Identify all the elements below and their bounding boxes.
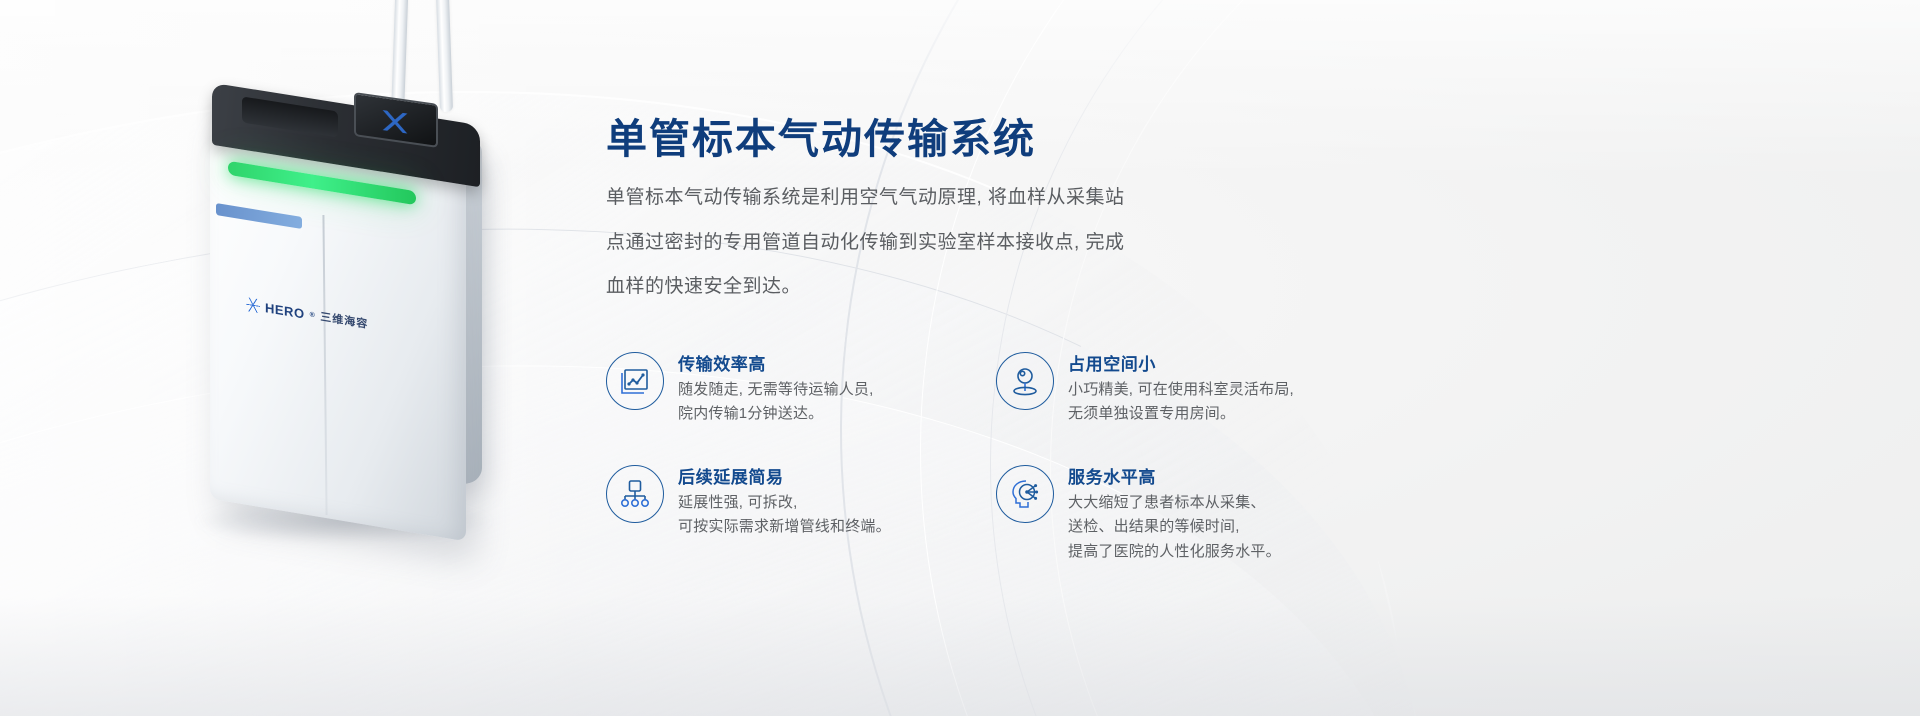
feature-line: 送检、出结果的等候时间, <box>1068 515 1281 539</box>
feature-title: 后续延展简易 <box>678 463 891 488</box>
feature-text: 传输效率高 随发随走, 无需等待运输人员, 院内传输1分钟送达。 <box>678 348 874 427</box>
feature-grid: 传输效率高 随发随走, 无需等待运输人员, 院内传输1分钟送达。 占用空间小 <box>606 348 1306 564</box>
feature-line: 延展性强, 可拆改, <box>678 491 891 515</box>
description-line-1: 单管标本气动传输系统是利用空气气动原理, 将血样从采集站 <box>606 176 1266 221</box>
feature-text: 服务水平高 大大缩短了患者标本从采集、 送检、出结果的等候时间, 提高了医院的人… <box>1068 461 1281 564</box>
pneumatic-tube-right <box>436 0 453 112</box>
feature-line: 无须单独设置专用房间。 <box>1068 402 1294 426</box>
feature-title: 服务水平高 <box>1068 463 1281 488</box>
feature-line: 大大缩短了患者标本从采集、 <box>1068 491 1281 515</box>
content-column: 单管标本气动传输系统 单管标本气动传输系统是利用空气气动原理, 将血样从采集站 … <box>606 0 1606 716</box>
description-line-3: 血样的快速安全到达。 <box>606 265 1266 310</box>
feature-line: 院内传输1分钟送达。 <box>678 402 874 426</box>
brand-spark-icon <box>246 297 260 313</box>
feature-item-space-saving[interactable]: 占用空间小 小巧精美, 可在使用科室灵活布局, 无须单独设置专用房间。 <box>996 348 1306 453</box>
feature-title: 传输效率高 <box>678 350 874 375</box>
location-pin-icon <box>996 352 1054 410</box>
feature-line: 随发随走, 无需等待运输人员, <box>678 378 874 402</box>
feature-line: 小巧精美, 可在使用科室灵活布局, <box>1068 378 1294 402</box>
feature-title: 占用空间小 <box>1068 350 1294 375</box>
feature-line: 提高了医院的人性化服务水平。 <box>1068 540 1281 564</box>
feature-text: 后续延展简易 延展性强, 可拆改, 可按实际需求新增管线和终端。 <box>678 461 891 540</box>
page-title: 单管标本气动传输系统 <box>606 119 1036 160</box>
brand-registered-mark: ® <box>310 311 316 319</box>
feature-text: 占用空间小 小巧精美, 可在使用科室灵活布局, 无须单独设置专用房间。 <box>1068 348 1294 427</box>
smart-head-icon <box>996 465 1054 523</box>
product-image: HERO ® 三维海容 <box>150 0 570 600</box>
description-block: 单管标本气动传输系统是利用空气气动原理, 将血样从采集站 点通过密封的专用管道自… <box>606 176 1266 310</box>
feature-item-easy-extension[interactable]: 后续延展简易 延展性强, 可拆改, 可按实际需求新增管线和终端。 <box>606 461 996 564</box>
description-line-2: 点通过密封的专用管道自动化传输到实验室样本接收点, 完成 <box>606 221 1266 266</box>
feature-item-transmission-efficiency[interactable]: 传输效率高 随发随走, 无需等待运输人员, 院内传输1分钟送达。 <box>606 348 996 453</box>
network-tree-icon <box>606 465 664 523</box>
feature-line: 可按实际需求新增管线和终端。 <box>678 515 891 539</box>
line-chart-icon <box>606 352 664 410</box>
feature-item-service-level[interactable]: 服务水平高 大大缩短了患者标本从采集、 送检、出结果的等候时间, 提高了医院的人… <box>996 461 1306 564</box>
product-banner: HERO ® 三维海容 单管标本气动传输系统 单管标本气动传输系统是利用空气气动… <box>0 0 1920 716</box>
